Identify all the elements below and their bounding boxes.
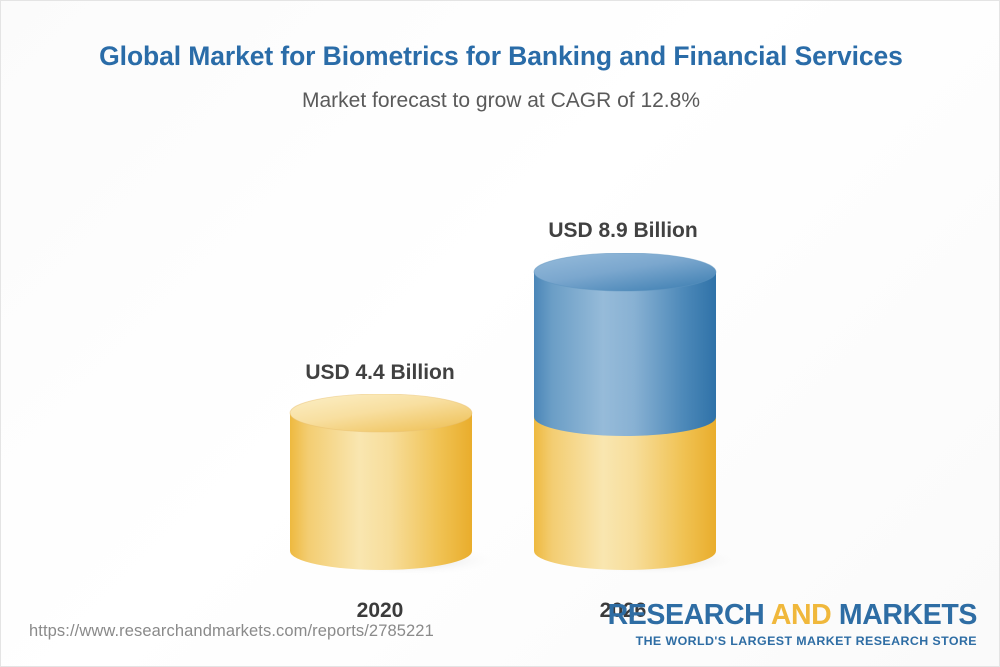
- logo-tagline: THE WORLD'S LARGEST MARKET RESEARCH STOR…: [608, 634, 977, 648]
- logo-word-research: RESEARCH: [608, 599, 771, 631]
- report-url[interactable]: https://www.researchandmarkets.com/repor…: [29, 622, 434, 641]
- logo-word-markets: MARKETS: [831, 599, 977, 631]
- logo-word-and: AND: [771, 599, 832, 631]
- bar-group-2026: USD 8.9 Billion: [533, 191, 713, 571]
- chart-page: Global Market for Biometrics for Banking…: [0, 0, 1000, 667]
- bar-group-2020: USD 4.4 Billion: [289, 191, 471, 571]
- cylinder-2026[interactable]: [533, 265, 713, 571]
- chart-subtitle: Market forecast to grow at CAGR of 12.8%: [1, 89, 1000, 113]
- bar-category-label-2020: 2020: [357, 599, 404, 623]
- bar-value-label-2026: USD 8.9 Billion: [548, 219, 697, 243]
- cylinder-2020[interactable]: [289, 406, 471, 571]
- bar-value-label-2020: USD 4.4 Billion: [305, 361, 454, 385]
- research-and-markets-logo[interactable]: RESEARCH AND MARKETS THE WORLD'S LARGEST…: [608, 601, 977, 648]
- logo-wordmark: RESEARCH AND MARKETS: [608, 601, 977, 630]
- chart-title: Global Market for Biometrics for Banking…: [1, 41, 1000, 72]
- plot-area: USD 4.4 Billion: [1, 131, 1000, 571]
